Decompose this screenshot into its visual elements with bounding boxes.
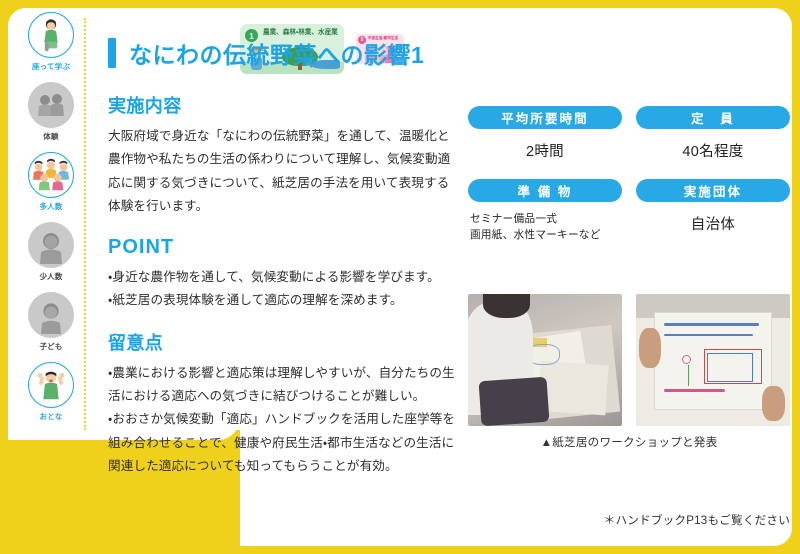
poster-text-line-art [664, 323, 759, 326]
section-body-line: ・おおさか気候変動「適応」ハンドブックを活用した座学等を組み合わせることで、健康… [108, 408, 456, 478]
sidebar-label: 子ども [39, 341, 62, 352]
info-value: 自治体 [636, 213, 790, 234]
info-duration: 平均所要時間 2時間 [468, 106, 622, 161]
poster-drawing-art [707, 353, 753, 382]
sidebar-label: おとな [40, 411, 63, 422]
info-label: 準 備 物 [468, 179, 622, 202]
crowd-icon [28, 152, 74, 198]
section-jisshinaiyo: 実施内容 大阪府域で身近な「なにわの伝統野菜」を通して、温暖化と農作物や私たちの… [108, 92, 456, 218]
section-point: POINT ・身近な農作物を通して、気候変動による影響を学びます。 ・紙芝居の表… [108, 236, 456, 313]
child-icon [28, 292, 74, 338]
sidebar-label: 体験 [43, 131, 58, 142]
poster-text-line-art [664, 334, 753, 337]
section-body: 大阪府域で身近な「なにわの伝統野菜」を通して、温暖化と農作物や私たちの生活の係わ… [108, 125, 456, 218]
hand-art [762, 386, 785, 420]
info-grid: 平均所要時間 2時間 定 員 40名程度 準 備 物 セミナー備品一式 画用紙、… [468, 106, 790, 244]
photo-presentation [636, 294, 790, 426]
info-row-2: 準 備 物 セミナー備品一式 画用紙、水性マーキーなど 実施団体 自治体 [468, 179, 790, 244]
adult-cheering-icon [28, 362, 74, 408]
poster-stem-art [688, 365, 690, 386]
info-label: 実施団体 [636, 179, 790, 202]
sidebar-label: 座って学ぶ [32, 61, 70, 72]
sidebar-item-sitting[interactable]: 座って学ぶ [15, 12, 87, 80]
footnote: ＊ハンドブックP13もご覧ください [468, 512, 790, 528]
poster-text-line-art [664, 389, 726, 392]
info-organizer: 実施団体 自治体 [636, 179, 790, 244]
sidebar: 座って学ぶ 体験 [14, 12, 88, 430]
section-heading: 留意点 [108, 329, 456, 355]
section-body-line: ・紙芝居の表現体験を通して適応の理解を深めます。 [108, 289, 456, 312]
participant-hair-art [483, 294, 529, 318]
hand-art [639, 328, 661, 368]
info-label: 定 員 [636, 106, 790, 129]
section-heading: POINT [108, 236, 456, 259]
info-value: 2時間 [468, 140, 622, 161]
info-label: 平均所要時間 [468, 106, 622, 129]
few-people-icon [28, 222, 74, 268]
info-row-1: 平均所要時間 2時間 定 員 40名程度 [468, 106, 790, 161]
sidebar-item-large-group[interactable]: 多人数 [15, 152, 87, 220]
photo-gallery [468, 294, 790, 426]
photo-caption: ▲紙芝居のワークショップと発表 [468, 434, 790, 450]
sidebar-item-child[interactable]: 子ども [15, 292, 87, 360]
page-frame: 座って学ぶ 体験 [0, 0, 800, 554]
sidebar-divider [84, 18, 86, 430]
title-accent-bar [108, 38, 116, 68]
person-sitting-icon [28, 12, 74, 58]
section-body-line: ・身近な農作物を通して、気候変動による影響を学びます。 [108, 266, 456, 289]
info-capacity: 定 員 40名程度 [636, 106, 790, 161]
sidebar-item-adult[interactable]: おとな [15, 362, 87, 430]
page-title: なにわの伝統野菜への影響1 [108, 36, 424, 70]
photo-workshop [468, 294, 622, 426]
section-body-line: ・農業における影響と適応策は理解しやすいが、自分たちの生活における適応への気づき… [108, 362, 456, 409]
bag-art [479, 376, 550, 425]
sidebar-item-experience[interactable]: 体験 [15, 82, 87, 150]
sidebar-label: 少人数 [39, 271, 62, 282]
info-materials: 準 備 物 セミナー備品一式 画用紙、水性マーキーなど [468, 179, 622, 244]
content-area: 1 農業、森林・林業、水産業 5 市民生活・都市生活 なにわの伝統野 [100, 14, 790, 542]
two-people-icon [28, 82, 74, 128]
sidebar-label: 多人数 [39, 201, 62, 212]
section-heading: 実施内容 [108, 92, 456, 118]
section-ryuiten: 留意点 ・農業における影響と適応策は理解しやすいが、自分たちの生活における適応へ… [108, 329, 456, 478]
left-column: 実施内容 大阪府域で身近な「なにわの伝統野菜」を通して、温暖化と農作物や私たちの… [108, 92, 456, 496]
info-value: セミナー備品一式 画用紙、水性マーキーなど [468, 211, 622, 244]
poster-flower-art [682, 355, 691, 364]
sidebar-item-small-group[interactable]: 少人数 [15, 222, 87, 290]
info-value: 40名程度 [636, 140, 790, 161]
title-text: なにわの伝統野菜への影響1 [129, 36, 424, 70]
